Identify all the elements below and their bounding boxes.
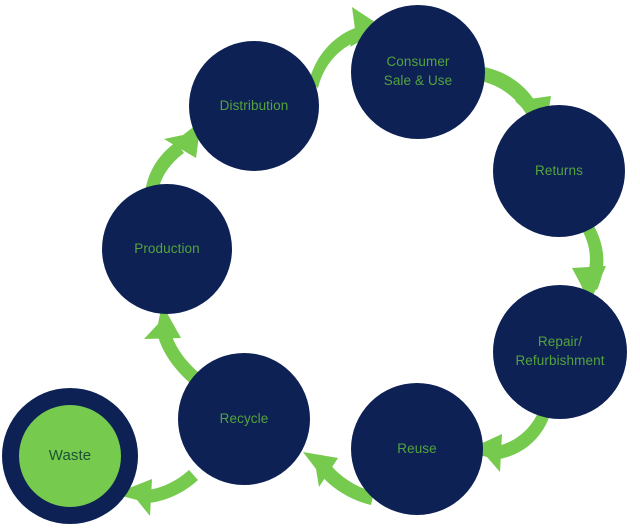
arrow-recycle-to-production-icon: [144, 304, 198, 383]
node-reuse-label: Reuse: [397, 440, 437, 459]
node-production-label: Production: [134, 240, 200, 259]
node-recycle-label: Recycle: [220, 410, 269, 429]
node-consumer-sale-use-label: Consumer Sale & Use: [384, 53, 453, 90]
node-returns[interactable]: Returns: [493, 105, 625, 237]
node-distribution[interactable]: Distribution: [189, 41, 319, 171]
node-returns-label: Returns: [535, 162, 583, 181]
node-waste-label: Waste: [49, 446, 91, 467]
node-reuse[interactable]: Reuse: [351, 383, 483, 515]
node-recycle[interactable]: Recycle: [178, 353, 310, 485]
node-waste-inner-circle: Waste: [19, 405, 121, 507]
node-consumer-sale-use[interactable]: Consumer Sale & Use: [351, 5, 485, 139]
node-repair-refurbishment[interactable]: Repair/ Refurbishment: [493, 285, 627, 419]
node-waste[interactable]: Waste: [2, 388, 138, 524]
node-repair-refurbishment-label: Repair/ Refurbishment: [515, 333, 604, 370]
node-distribution-label: Distribution: [220, 97, 289, 116]
node-production[interactable]: Production: [102, 184, 232, 314]
circular-economy-diagram: Distribution Consumer Sale & Use Returns…: [0, 0, 640, 531]
